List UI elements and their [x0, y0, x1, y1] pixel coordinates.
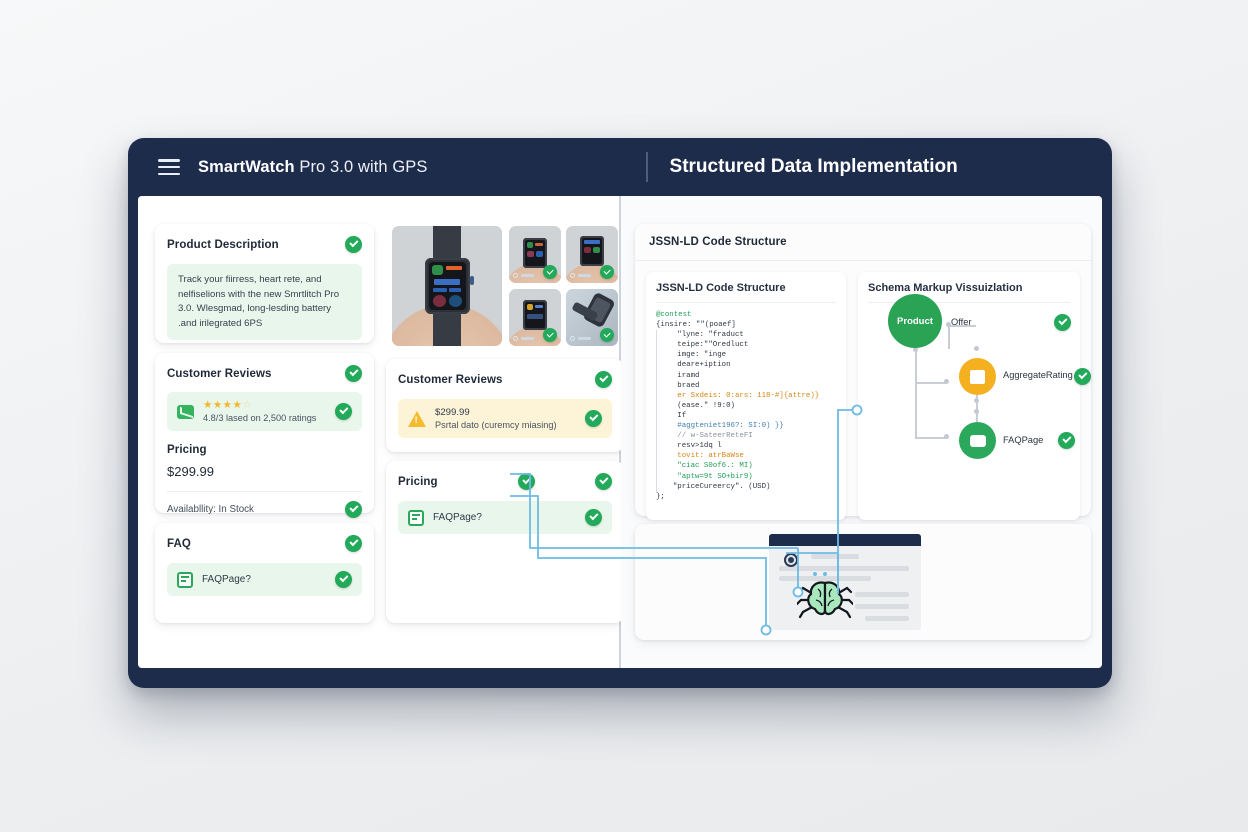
faq-item-label: FAQPage?: [202, 574, 326, 585]
header-divider: [646, 152, 648, 182]
status-check-icon: [518, 473, 535, 490]
graph-node-faqpage-label: FAQPage: [1003, 435, 1043, 445]
left-pane: Product Description Track your fiirress,…: [138, 196, 619, 668]
review-badge-icon: [177, 405, 194, 419]
availability-text: Availabllity: In Stock: [167, 504, 254, 515]
app-screen: Product Description Track your fiirress,…: [138, 196, 1102, 668]
status-check-icon: [335, 403, 352, 420]
graph-node-product[interactable]: Product: [888, 294, 942, 348]
status-check-icon: [585, 509, 602, 526]
hamburger-icon[interactable]: [158, 159, 180, 175]
product-main-image[interactable]: [392, 226, 502, 346]
graph-node-product-label: Product: [897, 316, 933, 327]
status-check-icon: [345, 535, 362, 552]
middle-pricing-card: Pricing FAQPage?: [386, 461, 624, 623]
middle-faq-row[interactable]: FAQPage?: [398, 501, 612, 534]
status-check-icon: [1058, 432, 1075, 449]
thumb-caption: [570, 336, 591, 341]
status-check-icon: [1054, 314, 1071, 331]
status-check-icon: [1074, 368, 1091, 385]
status-check-icon: [585, 410, 602, 427]
browser-title-bar: [769, 534, 921, 546]
schema-graph-card: Schema Markup Vissuizlation: [858, 272, 1080, 520]
graph-node-faqpage[interactable]: [959, 422, 996, 459]
app-header: SmartWatch Pro 3.0 with GPS Structured D…: [128, 138, 1112, 196]
screenshot-root: SmartWatch Pro 3.0 with GPS Structured D…: [0, 0, 1248, 832]
schema-graph-title: Schema Markup Vissuizlation: [868, 282, 1070, 294]
status-check-icon: [543, 265, 557, 279]
middle-customer-reviews-card: Customer Reviews $299.99 Psrtal dato (cu…: [386, 359, 624, 452]
product-description-body: Track your fiirress, heart rete, and nel…: [167, 264, 362, 340]
structured-data-card: JSSN-LD Code Structure JSSN-LD Code Stru…: [635, 224, 1091, 516]
faq-title: FAQ: [167, 538, 191, 550]
rating-summary: 4.8/3 lased on 2,500 ratings: [203, 413, 326, 423]
warning-icon: [408, 411, 426, 427]
faq-page-icon: [177, 572, 193, 588]
page-title-left: SmartWatch Pro 3.0 with GPS: [198, 158, 428, 177]
jsonld-code-card: JSSN-LD Code Structure @contest{insire: …: [646, 272, 846, 520]
middle-pricing-title: Pricing: [398, 476, 438, 488]
status-check-icon: [345, 236, 362, 253]
right-pane: JSSN-LD Code Structure JSSN-LD Code Stru…: [621, 196, 1102, 668]
status-check-icon: [600, 328, 614, 342]
product-thumb[interactable]: [566, 226, 618, 283]
faq-card: FAQ FAQPage?: [155, 523, 374, 623]
search-preview-card: [635, 524, 1091, 640]
page-title-right: Structured Data Implementation: [670, 156, 958, 178]
product-thumb[interactable]: [566, 289, 618, 346]
status-check-icon: [543, 328, 557, 342]
product-description-card: Product Description Track your fiirress,…: [155, 224, 374, 343]
thumb-caption: [513, 273, 534, 278]
middle-customer-reviews-title: Customer Reviews: [398, 374, 503, 386]
divider: [656, 302, 836, 303]
price-warning-row[interactable]: $299.99 Psrtal dato (curemcy miasing): [398, 399, 612, 438]
status-check-icon: [595, 473, 612, 490]
status-check-icon: [345, 501, 362, 518]
status-check-icon: [600, 265, 614, 279]
crawler-icon: [779, 551, 803, 569]
thumb-caption: [570, 273, 591, 278]
pricing-title: Pricing: [167, 444, 362, 456]
jsonld-outer-title: JSSN-LD Code Structure: [635, 224, 1091, 260]
product-name-rest: Pro 3.0 with GPS: [295, 158, 428, 176]
graph-node-aggregaterating-label: AggregateRating: [1003, 370, 1073, 380]
brain-spider-icon: [797, 576, 853, 622]
product-thumb[interactable]: [509, 289, 561, 346]
jsonld-code-title: JSSN-LD Code Structure: [656, 282, 836, 294]
divider: [167, 491, 362, 492]
status-check-icon: [335, 571, 352, 588]
browser-mockup[interactable]: [769, 534, 921, 630]
reviews-pricing-card: Customer Reviews ★★★★☆ 4.8/3 lased on 2,…: [155, 353, 374, 513]
thumb-caption: [513, 336, 534, 341]
rating-row[interactable]: ★★★★☆ 4.8/3 lased on 2,500 ratings: [167, 392, 362, 431]
customer-reviews-title: Customer Reviews: [167, 368, 272, 380]
middle-faq-label: FAQPage?: [433, 512, 576, 523]
product-name-bold: SmartWatch: [198, 158, 295, 176]
graph-node-aggregaterating[interactable]: [959, 358, 996, 395]
status-check-icon: [345, 365, 362, 382]
faq-row[interactable]: FAQPage?: [167, 563, 362, 596]
device-frame: SmartWatch Pro 3.0 with GPS Structured D…: [128, 138, 1112, 688]
star-rating: ★★★★☆: [203, 400, 326, 411]
status-check-icon: [595, 371, 612, 388]
product-thumb[interactable]: [509, 226, 561, 283]
faq-page-icon: [408, 510, 424, 526]
graph-edge-label-offer: Offer: [951, 317, 972, 327]
warning-price: $299.99: [435, 407, 576, 418]
warning-note: Psrtal dato (curemcy miasing): [435, 420, 576, 430]
product-description-title: Product Description: [167, 239, 279, 251]
jsonld-code-block[interactable]: @contest{insire: ""(poaef] "lyne: "fradu…: [656, 310, 836, 502]
price-value: $299.99: [167, 464, 362, 479]
